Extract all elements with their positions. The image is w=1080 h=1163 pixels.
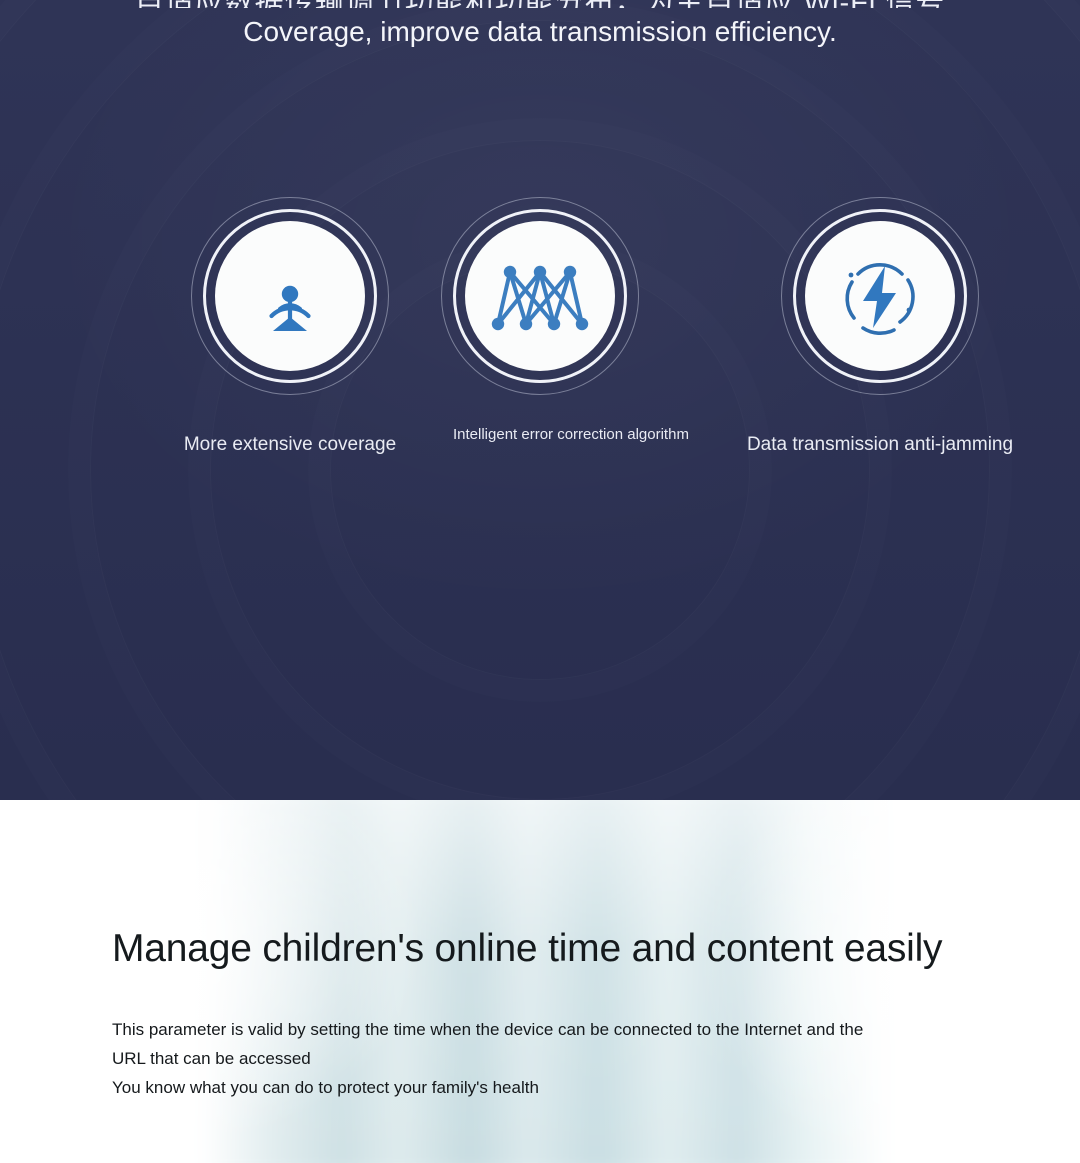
panel-title: Manage children's online time and conten… (112, 917, 1052, 981)
panel-paragraph-line-3: You know what you can do to protect your… (112, 1073, 1032, 1102)
feature-item-error-correction: Intelligent error correction algorithm (390, 196, 690, 446)
hero-heading-english: Coverage, improve data transmission effi… (0, 14, 1080, 50)
panel-content: Manage children's online time and conten… (112, 800, 1052, 1102)
broadcast-tower-icon (241, 247, 339, 345)
feature-badge (780, 196, 980, 396)
mesh-network-icon (490, 250, 590, 342)
panel-paragraph-line-2: URL that can be accessed (112, 1044, 1032, 1073)
hero-section: 自适应数据传输调节功能和功能分布，为主自适应 Wi-Fi 信号 Coverage… (0, 0, 1080, 800)
feature-badge (190, 196, 390, 396)
badge-disc (465, 221, 615, 371)
badge-disc (215, 221, 365, 371)
product-feature-page: 自适应数据传输调节功能和功能分布，为主自适应 Wi-Fi 信号 Coverage… (0, 0, 1080, 1163)
hero-heading: 自适应数据传输调节功能和功能分布，为主自适应 Wi-Fi 信号 Coverage… (0, 0, 1080, 50)
panel-paragraph: This parameter is valid by setting the t… (112, 1015, 1032, 1102)
panel-title-line-1: Manage children's online (112, 927, 537, 970)
feature-label-anti-jamming: Data transmission anti-jamming (730, 433, 1030, 457)
feature-badge (440, 196, 640, 396)
panel-title-line-2: time and content easily (548, 927, 942, 970)
feature-row: More extensive coverage (0, 196, 1080, 496)
badge-disc (805, 221, 955, 371)
lightning-bolt-icon (830, 246, 930, 346)
parental-control-section: Manage children's online time and conten… (0, 800, 1080, 1163)
hero-heading-chinese: 自适应数据传输调节功能和功能分布，为主自适应 Wi-Fi 信号 (0, 0, 1080, 8)
feature-item-anti-jamming: Data transmission anti-jamming (730, 196, 1030, 457)
panel-paragraph-line-1: This parameter is valid by setting the t… (112, 1015, 1032, 1044)
feature-label-error-correction: Intelligent error correction algorithm (390, 424, 690, 446)
